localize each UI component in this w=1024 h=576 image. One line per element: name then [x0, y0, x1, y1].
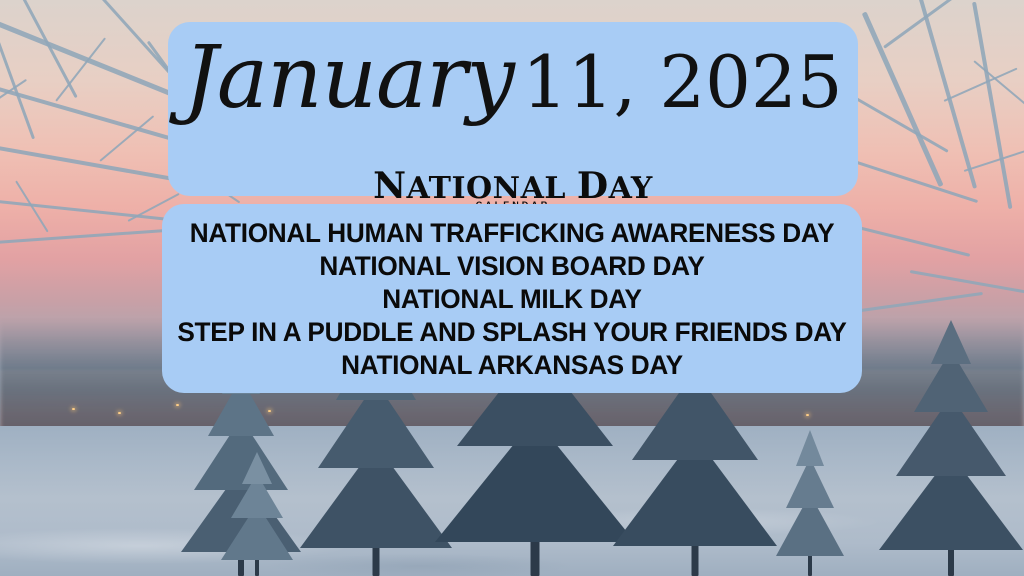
logo-wordmark: NATIONAL DAY — [373, 168, 653, 204]
logo-ay: AY — [609, 171, 653, 206]
holiday-list-panel: NATIONAL HUMAN TRAFFICKING AWARENESS DAY… — [162, 204, 862, 393]
spruce-tree — [218, 446, 296, 576]
distant-light — [72, 408, 75, 410]
spruce-tree — [876, 326, 1024, 576]
distant-light — [118, 412, 121, 414]
logo-n: N — [373, 165, 406, 207]
holiday-item: NATIONAL MILK DAY — [173, 283, 852, 316]
date-panel: January11, 2025 NATIONAL DAY CALENDAR — [168, 22, 858, 196]
date-heading: January11, 2025 — [168, 28, 858, 128]
holiday-item: NATIONAL HUMAN TRAFFICKING AWARENESS DAY — [173, 217, 852, 250]
holiday-item: NATIONAL ARKANSAS DAY — [173, 349, 852, 382]
holiday-item: STEP IN A PUDDLE AND SPLASH YOUR FRIENDS… — [173, 316, 852, 349]
spruce-tree — [772, 416, 848, 576]
date-day-year: 11, 2025 — [522, 40, 843, 124]
national-day-calendar-graphic: January11, 2025 NATIONAL DAY CALENDAR NA… — [0, 0, 1024, 576]
date-month: January — [183, 28, 514, 128]
holiday-item: NATIONAL VISION BOARD DAY — [173, 250, 852, 283]
logo-d: D — [577, 165, 609, 207]
